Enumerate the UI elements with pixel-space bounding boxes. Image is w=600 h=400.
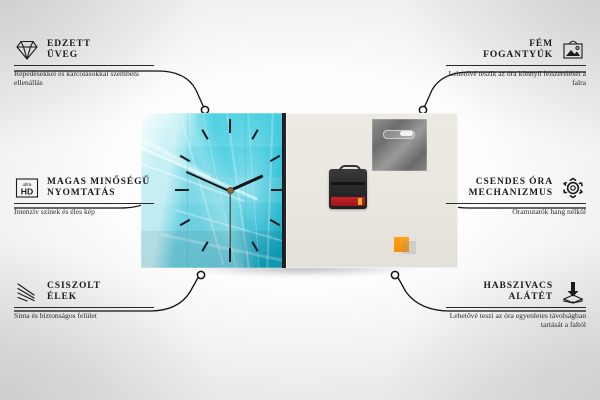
feature-rule [446,65,586,66]
feature-metal-handles: FÉM FOGANTYÚK Lehetővé teszik az óra kön… [446,38,586,88]
polished-edges-icon [14,280,40,304]
feature-rule [14,307,154,308]
feature-rule [14,203,154,204]
feature-title-line1: FÉM [446,39,553,51]
metal-hanger-part [372,119,427,171]
product-image [141,113,458,268]
feature-title-line1: MAGAS MINŐSÉGŰ [47,177,150,189]
foam-pad-part [394,237,409,252]
feature-description: Sima és biztonságos felület [14,311,154,320]
feature-title-line2: MECHANIZMUS [446,188,553,200]
feature-rule [14,65,154,66]
clock-second-hand [229,191,230,249]
feature-title-line2: ÉLEK [47,292,101,304]
feature-description: Intenzív színek és éles kép [14,207,154,216]
feature-title-line1: CSISZOLT [47,281,101,293]
feature-description: Óramutatók hang nélkül [446,207,586,216]
gear-icon [560,176,586,200]
feature-rule [446,307,586,308]
feature-rule [446,203,586,204]
feature-high-quality-print: ultra HD MAGAS MINŐSÉGŰ NYOMTATÁS Intenz… [14,176,154,216]
feature-foam-spacer: HABSZIVACS ALÁTÉT Lehetővé teszi az óra … [446,280,586,330]
ultra-hd-badge-icon: ultra HD [14,176,40,200]
svg-text:HD: HD [21,186,33,196]
clock-mechanism-part [329,169,367,209]
clock-centre-pin [227,187,234,194]
foam-pad-arrow-icon [560,280,586,304]
feature-title-line2: NYOMTATÁS [47,188,150,200]
battery-part [331,197,365,206]
feature-polished-edges: CSISZOLT ÉLEK Sima és biztonságos felüle… [14,280,154,320]
diamond-icon [14,38,40,62]
feature-description: Lehetővé teszik az óra könnyű felszerelé… [446,69,586,88]
feature-tempered-glass: EDZETT ÜVEG Repedésekkel és karcolásokka… [14,38,154,88]
feature-title-line2: ÜVEG [47,50,91,62]
feature-description: Repedésekkel és karcolásokkal szembeni e… [14,69,154,88]
feature-silent-mechanism: CSENDES ÓRA MECHANIZMUS Óramutatók hang … [446,176,586,216]
clock-back [286,113,458,268]
feature-title-line1: HABSZIVACS [446,281,553,293]
picture-hanger-icon [560,38,586,62]
feature-title-line2: FOGANTYÚK [446,50,553,62]
infographic-canvas: EDZETT ÜVEG Repedésekkel és karcolásokka… [0,0,600,400]
feature-title-line1: CSENDES ÓRA [446,177,553,189]
clock-face-front [141,113,286,268]
feature-title-line2: ALÁTÉT [446,292,553,304]
feature-title-line1: EDZETT [47,39,91,51]
feature-description: Lehetővé teszi az óra egyenletes távolsá… [446,311,586,330]
